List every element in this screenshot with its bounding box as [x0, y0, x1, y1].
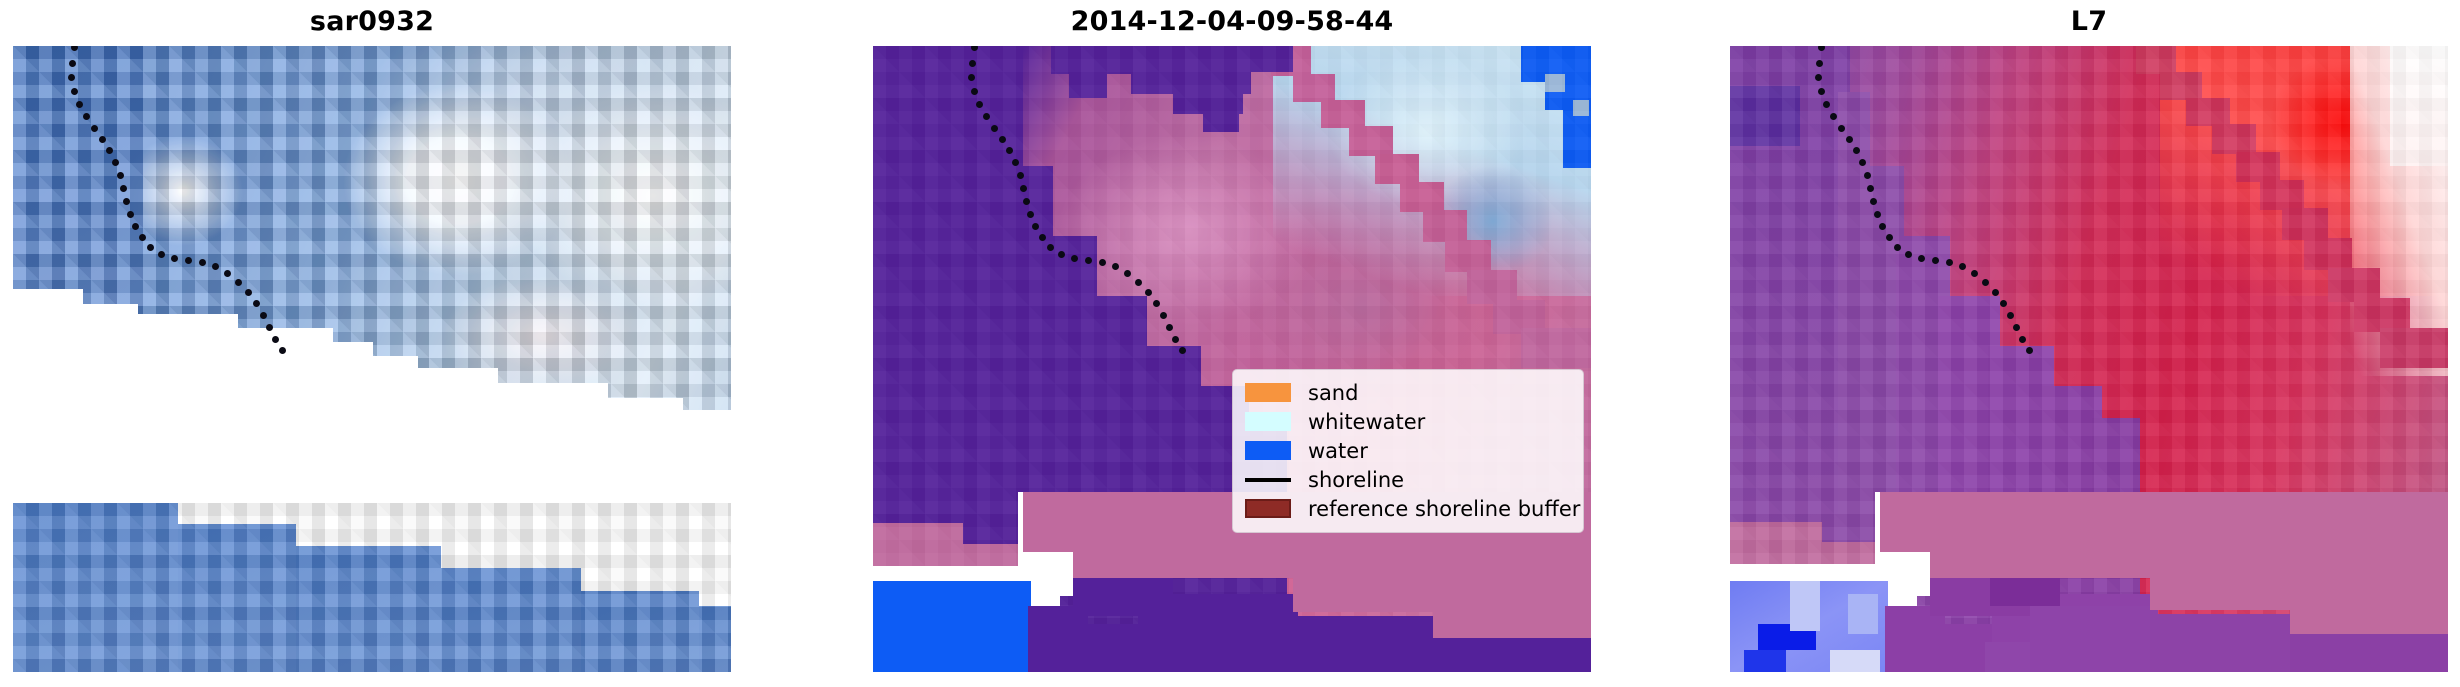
- figure-canvas: sar0932: [0, 0, 2460, 687]
- panel-classified: 2014-12-04-09-58-44: [873, 0, 1591, 687]
- legend-label-shoreline: shoreline: [1308, 468, 1404, 492]
- shoreline-overlay-sar: [13, 46, 731, 672]
- shoreline-overlay-classified: [873, 46, 1591, 672]
- panel-l7: L7: [1730, 0, 2448, 687]
- reference-shoreline-buffer-swatch-icon: [1245, 499, 1291, 518]
- legend-item-water: water: [1245, 436, 1571, 465]
- shoreline-overlay-l7: [1730, 46, 2448, 672]
- panel-title-classified: 2014-12-04-09-58-44: [873, 2, 1591, 42]
- axes-l7: [1730, 46, 2448, 672]
- sand-swatch-icon: [1245, 383, 1291, 402]
- axes-sar0932: [13, 46, 731, 672]
- panel-sar0932: sar0932: [13, 0, 731, 687]
- panel-title-sar0932: sar0932: [13, 2, 731, 42]
- shoreline-line-icon: [1245, 478, 1291, 482]
- legend-item-reference-shoreline-buffer: reference shoreline buffer: [1245, 494, 1571, 523]
- legend-label-water: water: [1308, 439, 1368, 463]
- whitewater-swatch-icon: [1245, 412, 1291, 431]
- legend-label-sand: sand: [1308, 381, 1358, 405]
- legend-label-whitewater: whitewater: [1308, 410, 1425, 434]
- panel-title-l7: L7: [1730, 2, 2448, 42]
- legend-box: sand whitewater water shoreline referenc…: [1232, 369, 1584, 533]
- water-swatch-icon: [1245, 441, 1291, 460]
- legend-item-sand: sand: [1245, 378, 1571, 407]
- axes-classified: [873, 46, 1591, 672]
- legend-item-whitewater: whitewater: [1245, 407, 1571, 436]
- legend-label-reference-shoreline-buffer: reference shoreline buffer: [1308, 497, 1580, 521]
- legend-item-shoreline: shoreline: [1245, 465, 1571, 494]
